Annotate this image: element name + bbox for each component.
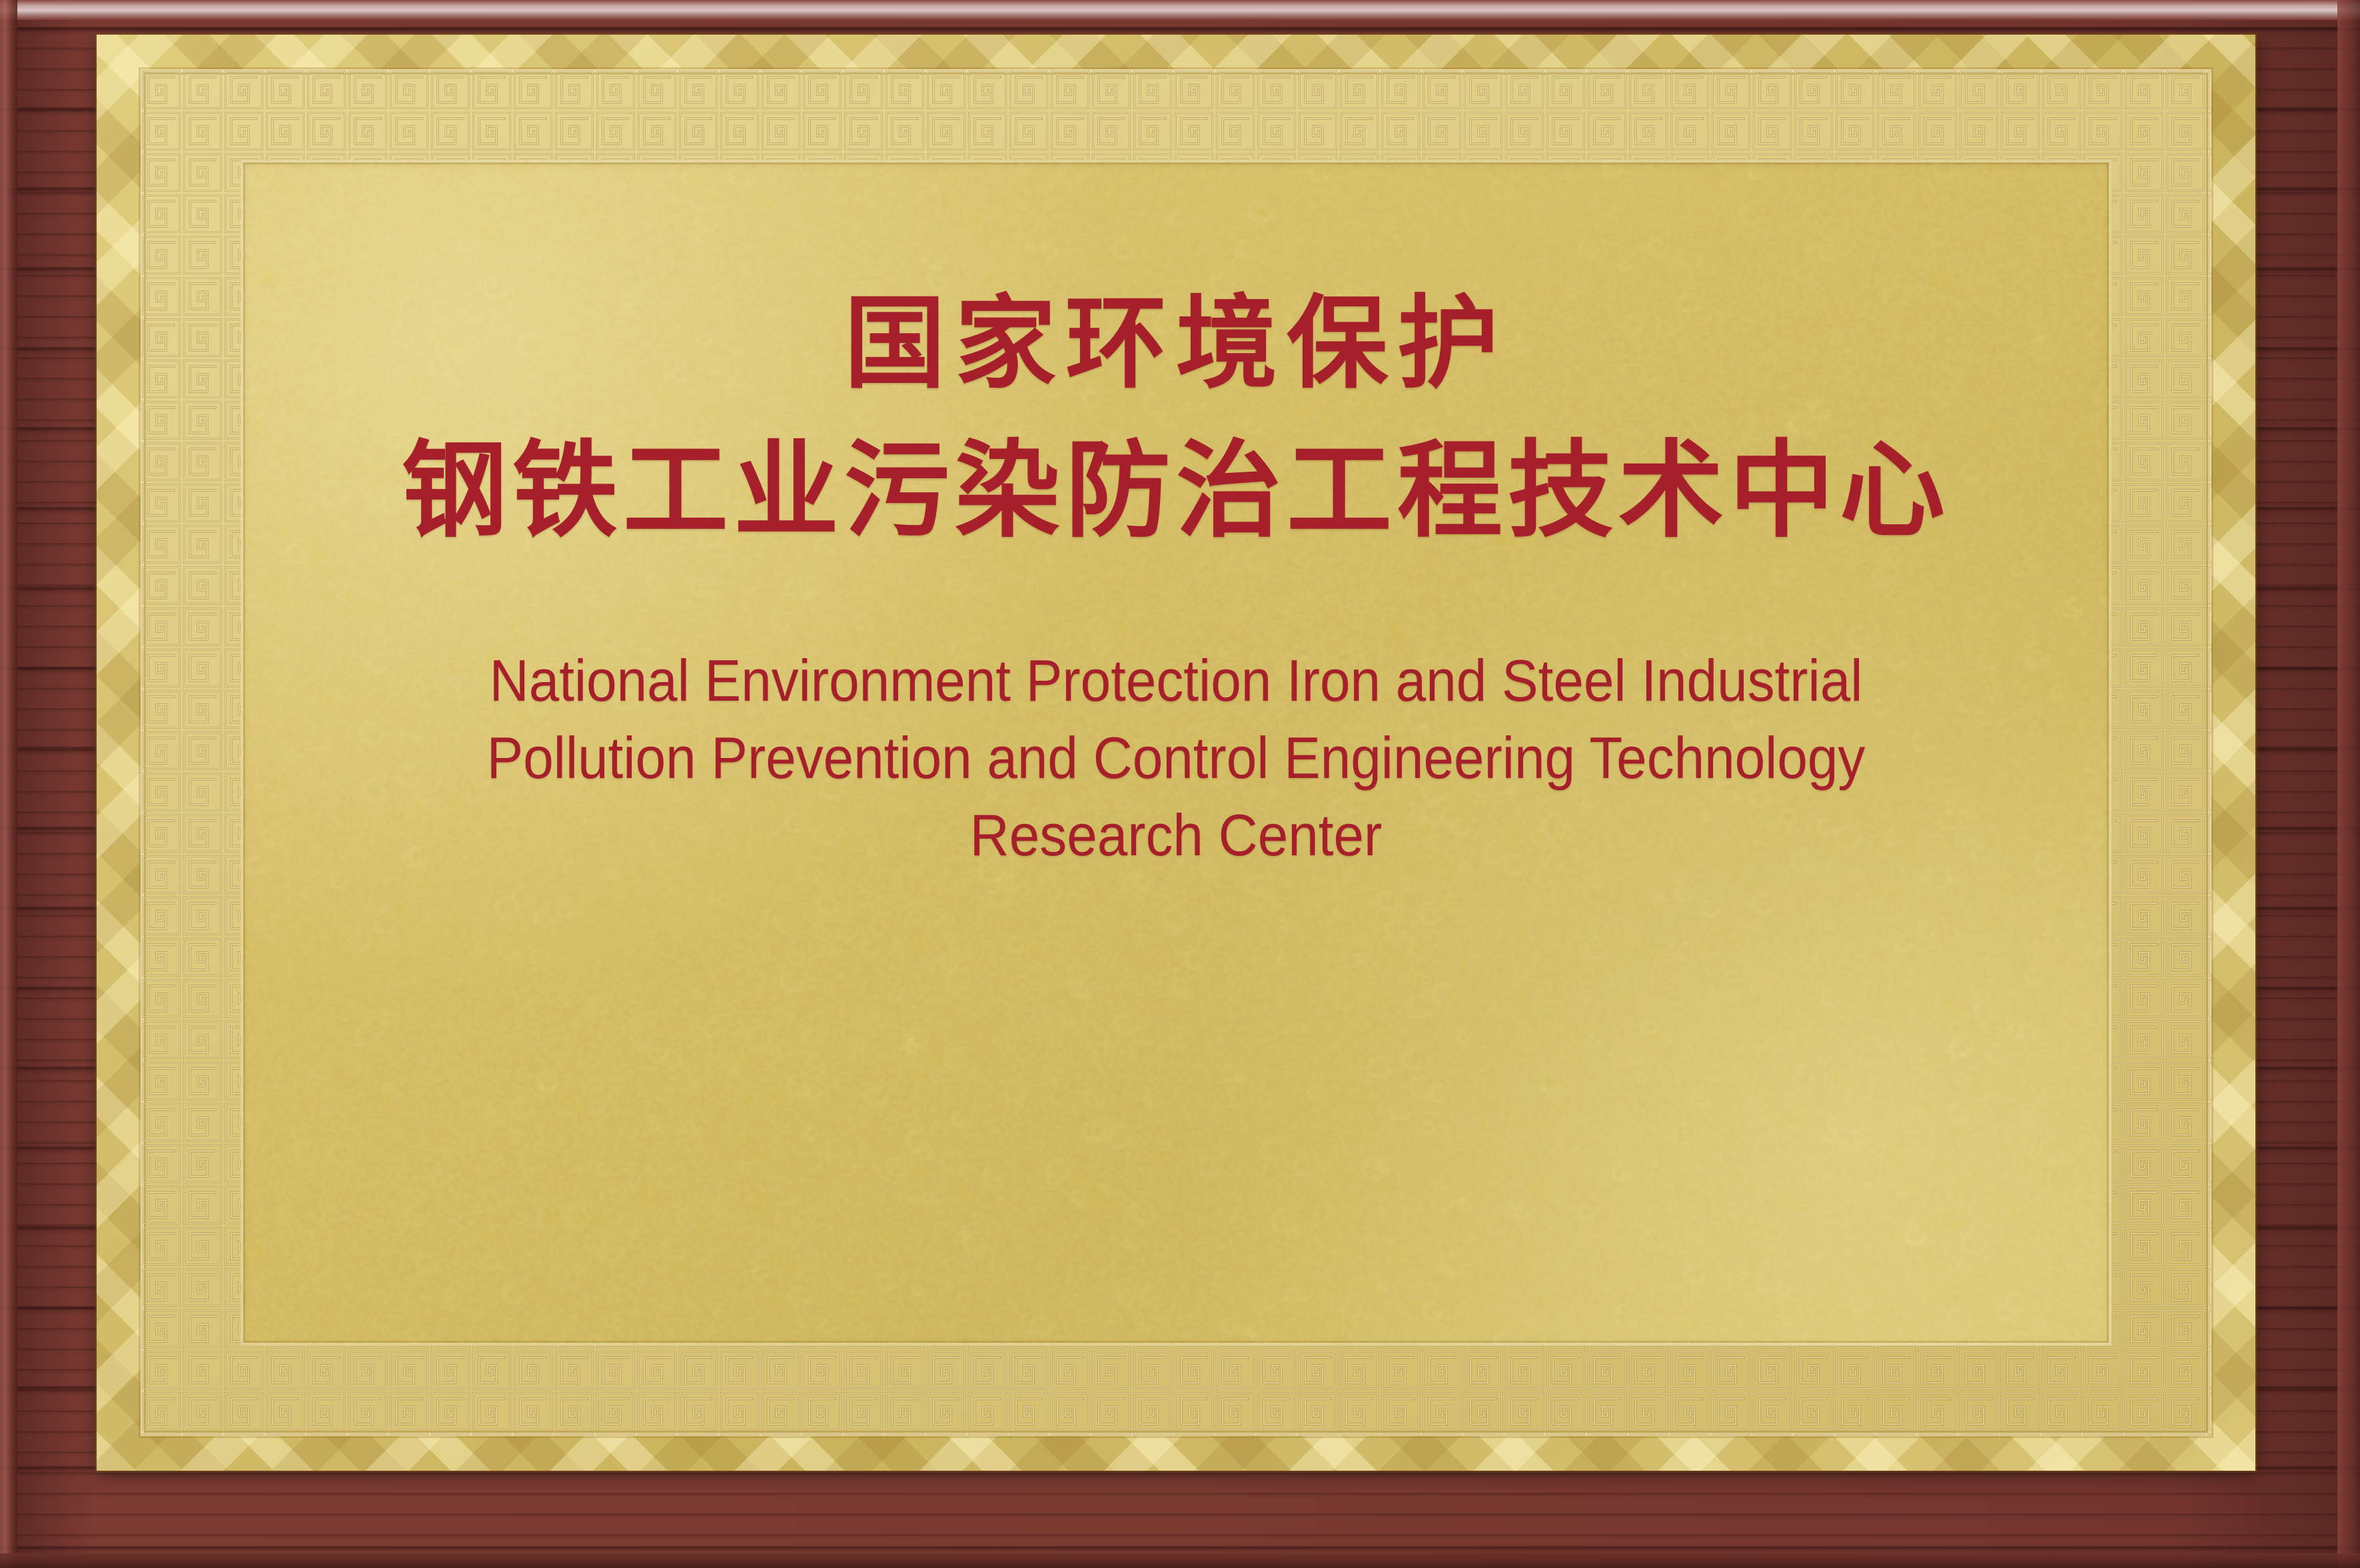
- english-title-line-2: Pollution Prevention and Control Enginee…: [321, 719, 2032, 797]
- chinese-title-line-2: 钢铁工业污染防治工程技术中心: [402, 438, 1950, 544]
- frame-bevel-right-shadow: [2337, 0, 2360, 1568]
- gold-plaque-board: 国家环境保护 钢铁工业污染防治工程技术中心 National Environme…: [97, 35, 2255, 1471]
- chinese-title-line-1: 国家环境保护: [844, 293, 1508, 394]
- plaque-frame: 国家环境保护 钢铁工业污染防治工程技术中心 National Environme…: [0, 0, 2360, 1568]
- frame-bevel-bottom-shadow: [0, 1553, 2360, 1568]
- inner-engraved-field: 国家环境保护 钢铁工业污染防治工程技术中心 National Environme…: [241, 160, 2111, 1346]
- english-title-line-3: Research Center: [321, 797, 2032, 874]
- frame-bevel-top-highlight: [0, 0, 2360, 20]
- frame-bevel-left-highlight: [0, 0, 17, 1568]
- meander-border-band: 国家环境保护 钢铁工业污染防治工程技术中心 National Environme…: [141, 69, 2211, 1436]
- english-title-block: National Environment Protection Iron and…: [321, 642, 2032, 874]
- english-title-line-1: National Environment Protection Iron and…: [321, 642, 2032, 719]
- plaque-text-block: 国家环境保护 钢铁工业污染防治工程技术中心 National Environme…: [241, 160, 2111, 1346]
